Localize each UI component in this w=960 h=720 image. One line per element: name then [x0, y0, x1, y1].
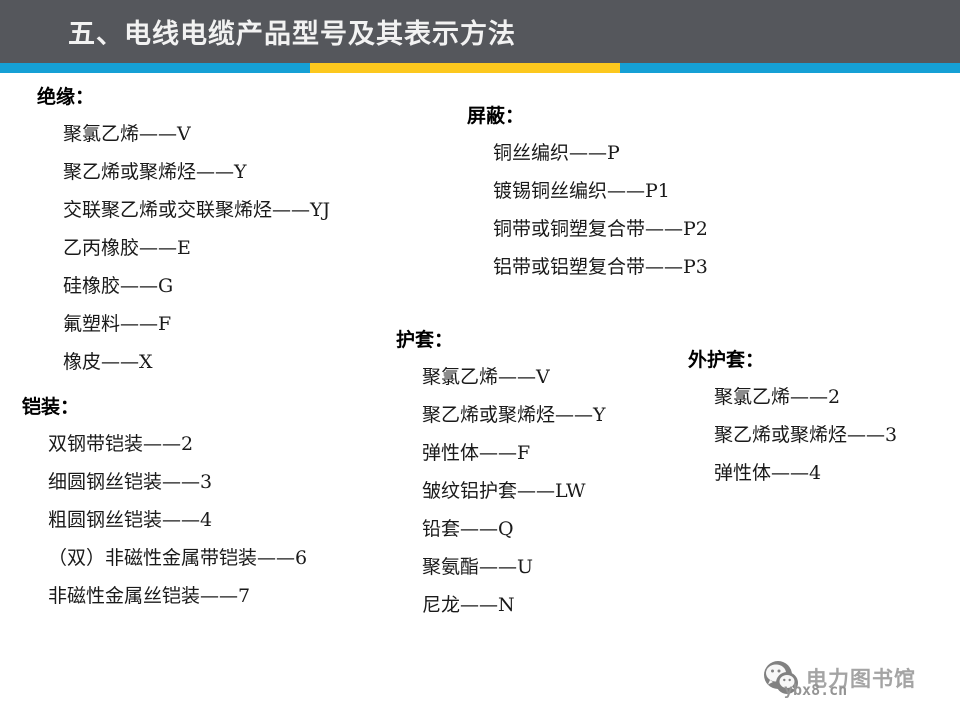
- accent-strip-yellow: [310, 63, 620, 73]
- watermark-url: ybx8.cn: [784, 681, 847, 699]
- group-list-insulation: 聚氯乙烯——V 聚乙烯或聚烯烃——Y 交联聚乙烯或交联聚烯烃——YJ 乙丙橡胶—…: [63, 115, 330, 381]
- accent-strip-blue-left: [0, 63, 310, 73]
- list-item: 硅橡胶——G: [63, 267, 330, 305]
- group-list-outer-sheath: 聚氯乙烯——2 聚乙烯或聚烯烃——3 弹性体——4: [714, 378, 897, 492]
- list-item: 聚氨酯——U: [422, 548, 606, 586]
- list-item: （双）非磁性金属带铠装——6: [48, 539, 307, 577]
- group-list-armor: 双钢带铠装——2 细圆钢丝铠装——3 粗圆钢丝铠装——4 （双）非磁性金属带铠装…: [48, 425, 307, 615]
- list-item: 聚氯乙烯——2: [714, 378, 897, 416]
- list-item: 弹性体——F: [422, 434, 606, 472]
- group-title-sheath: 护套：: [396, 331, 606, 350]
- list-item: 镀锡铜丝编织——P1: [493, 172, 708, 210]
- list-item: 非磁性金属丝铠装——7: [48, 577, 307, 615]
- group-outer-sheath: 外护套： 聚氯乙烯——2 聚乙烯或聚烯烃——3 弹性体——4: [688, 351, 897, 492]
- list-item: 聚乙烯或聚烯烃——Y: [63, 153, 330, 191]
- list-item: 聚乙烯或聚烯烃——Y: [422, 396, 606, 434]
- list-item: 铜丝编织——P: [493, 134, 708, 172]
- list-item: 皱纹铝护套——LW: [422, 472, 606, 510]
- list-item: 双钢带铠装——2: [48, 425, 307, 463]
- list-item: 乙丙橡胶——E: [63, 229, 330, 267]
- list-item: 铅套——Q: [422, 510, 606, 548]
- group-armor: 铠装： 双钢带铠装——2 细圆钢丝铠装——3 粗圆钢丝铠装——4 （双）非磁性金…: [22, 398, 307, 615]
- accent-strip-blue-right: [620, 63, 960, 73]
- list-item: 聚氯乙烯——V: [422, 358, 606, 396]
- list-item: 交联聚乙烯或交联聚烯烃——YJ: [63, 191, 330, 229]
- group-insulation: 绝缘： 聚氯乙烯——V 聚乙烯或聚烯烃——Y 交联聚乙烯或交联聚烯烃——YJ 乙…: [37, 88, 330, 381]
- list-item: 聚乙烯或聚烯烃——3: [714, 416, 897, 454]
- list-item: 尼龙——N: [422, 586, 606, 624]
- slide-canvas: 五、电线电缆产品型号及其表示方法 绝缘： 聚氯乙烯——V 聚乙烯或聚烯烃——Y …: [0, 0, 960, 720]
- group-title-shield: 屏蔽：: [467, 107, 708, 126]
- group-sheath: 护套： 聚氯乙烯——V 聚乙烯或聚烯烃——Y 弹性体——F 皱纹铝护套——LW …: [396, 331, 606, 624]
- list-item: 橡皮——X: [63, 343, 330, 381]
- list-item: 铜带或铜塑复合带——P2: [493, 210, 708, 248]
- group-list-shield: 铜丝编织——P 镀锡铜丝编织——P1 铜带或铜塑复合带——P2 铝带或铝塑复合带…: [493, 134, 708, 286]
- list-item: 细圆钢丝铠装——3: [48, 463, 307, 501]
- list-item: 粗圆钢丝铠装——4: [48, 501, 307, 539]
- group-title-outer-sheath: 外护套：: [688, 351, 897, 370]
- list-item: 氟塑料——F: [63, 305, 330, 343]
- group-list-sheath: 聚氯乙烯——V 聚乙烯或聚烯烃——Y 弹性体——F 皱纹铝护套——LW 铅套——…: [422, 358, 606, 624]
- page-title: 五、电线电缆产品型号及其表示方法: [68, 12, 516, 51]
- watermark: 电力图书馆 ybx8.cn: [762, 655, 952, 705]
- group-title-armor: 铠装：: [22, 398, 307, 417]
- list-item: 铝带或铝塑复合带——P3: [493, 248, 708, 286]
- group-title-insulation: 绝缘：: [37, 88, 330, 107]
- list-item: 弹性体——4: [714, 454, 897, 492]
- list-item: 聚氯乙烯——V: [63, 115, 330, 153]
- group-shield: 屏蔽： 铜丝编织——P 镀锡铜丝编织——P1 铜带或铜塑复合带——P2 铝带或铝…: [467, 107, 708, 286]
